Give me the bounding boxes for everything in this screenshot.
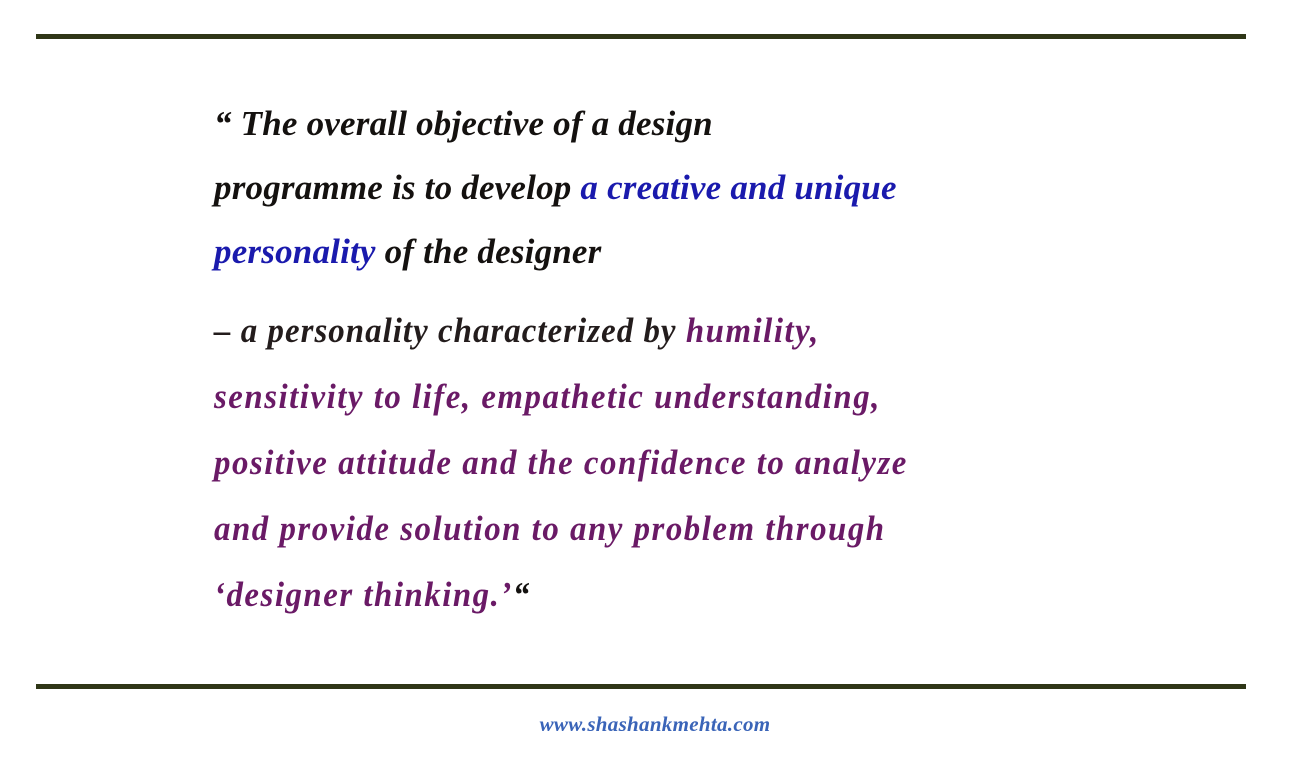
quote-paragraph-one: “ The overall objective of a design prog…: [214, 92, 1164, 284]
quote-text-plain: of the designer: [376, 232, 602, 271]
slide-canvas: “ The overall objective of a design prog…: [0, 0, 1310, 764]
quote-text-accent-purple: humility,: [686, 311, 820, 350]
quote-line: positive attitude and the confidence to …: [214, 430, 1107, 496]
quote-paragraph-two: – a personality characterized by humilit…: [214, 298, 1107, 628]
quote-text-accent-blue: a creative and unique: [580, 168, 896, 207]
quote-text-accent-purple: and provide solution to any problem thro…: [214, 509, 886, 548]
quote-text-accent-purple: positive attitude and the confidence to …: [214, 443, 908, 482]
quote-line: programme is to develop a creative and u…: [214, 156, 1164, 220]
quote-line: – a personality characterized by humilit…: [214, 298, 1107, 364]
footer-website-url: www.shashankmehta.com: [0, 712, 1310, 737]
quote-text-accent-blue: personality: [214, 232, 376, 271]
quote-text-accent-purple: ‘designer thinking.’: [214, 575, 513, 614]
quote-line: “ The overall objective of a design: [214, 92, 1164, 156]
quote-block: “ The overall objective of a design prog…: [214, 92, 1164, 628]
quote-text-plain: programme is to develop: [214, 168, 580, 207]
quote-line: personality of the designer: [214, 220, 1164, 284]
quote-line: sensitivity to life, empathetic understa…: [214, 364, 1107, 430]
quote-text-plain: “ The overall objective of a design: [214, 104, 713, 143]
bottom-divider-rule: [36, 684, 1246, 689]
quote-line: and provide solution to any problem thro…: [214, 496, 1107, 562]
quote-text-plain: – a personality characterized by: [214, 311, 686, 350]
quote-line: ‘designer thinking.’“: [214, 562, 1107, 628]
closing-quote-mark: “: [513, 575, 529, 614]
quote-text-accent-purple: sensitivity to life, empathetic understa…: [214, 377, 881, 416]
top-divider-rule: [36, 34, 1246, 39]
